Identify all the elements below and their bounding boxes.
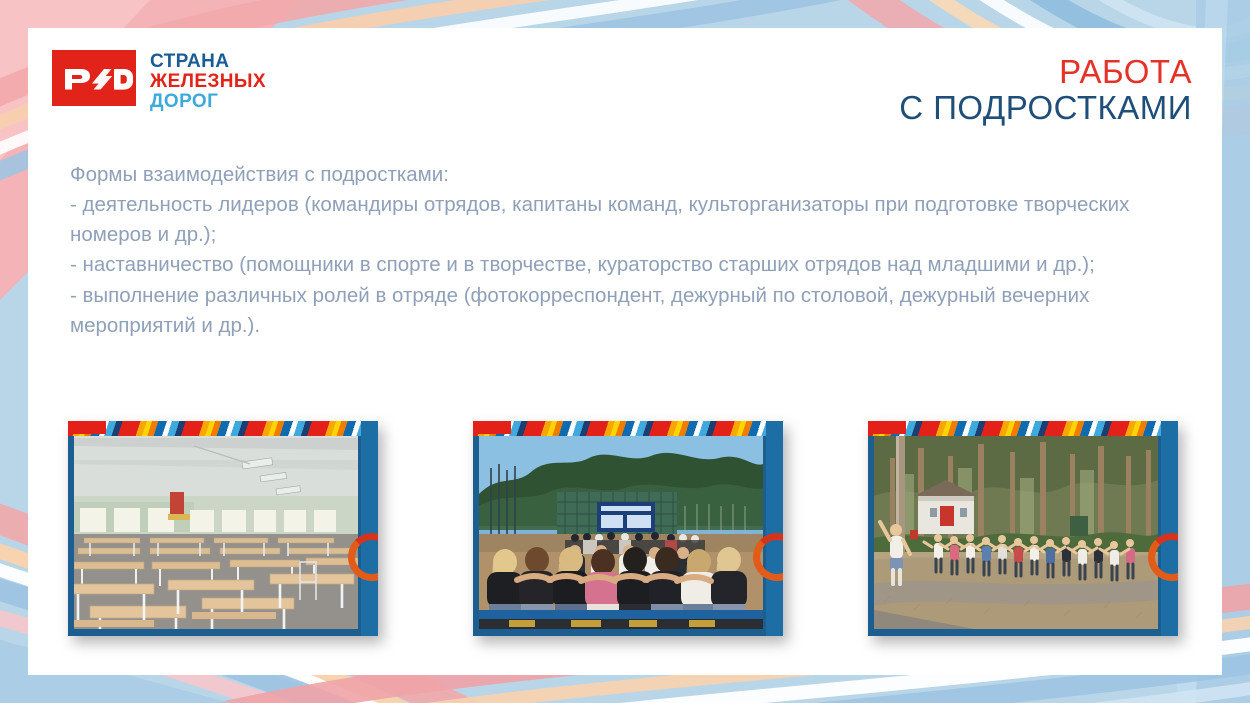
photo-frame-stripes [868,421,1178,436]
body-paragraph-3: - выполнение различных ролей в отряде (ф… [70,281,1180,341]
body-paragraph-0: Формы взаимодействия с подростками: [70,160,1180,190]
photo-frame [473,421,783,636]
title-line-1: РАБОТА [899,54,1192,90]
brand-wordmark: СТРАНА ЖЕЛЕЗНЫХ ДОРОГ [150,50,266,112]
title-line-2: С ПОДРОСТКАМИ [899,90,1192,126]
photo-frame-edge [1161,421,1178,636]
photo-frame-stripes [473,421,783,436]
slide-content-card: СТРАНА ЖЕЛЕЗНЫХ ДОРОГ РАБОТА С ПОДРОСТКА… [28,28,1222,675]
photo-frame [868,421,1178,636]
brand-line-2: ЖЕЛЕЗНЫХ [150,72,266,92]
photo-image-teens-on-bench [479,434,763,629]
photo-frame-stripes [68,421,378,436]
photo-frame-corner-accent [68,421,106,434]
photo-image-dining-hall [74,434,358,629]
brand-line-1: СТРАНА [150,52,266,72]
rzd-brand-logo: СТРАНА ЖЕЛЕЗНЫХ ДОРОГ [52,50,266,112]
photo-frame-corner-accent [473,421,511,434]
photo-teens-on-bench [473,421,783,636]
brand-line-3: ДОРОГ [150,92,266,112]
body-paragraph-2: - наставничество (помощники в спорте и в… [70,250,1180,280]
photo-image-morning-exercise [874,434,1158,629]
slide-body-text: Формы взаимодействия с подростками: - де… [70,160,1180,341]
photo-frame [68,421,378,636]
photo-gallery [28,421,1222,661]
photo-frame-edge [766,421,783,636]
photo-morning-exercise [868,421,1178,636]
presentation-slide: СТРАНА ЖЕЛЕЗНЫХ ДОРОГ РАБОТА С ПОДРОСТКА… [0,0,1250,703]
rzd-logo-mark [52,50,136,106]
slide-title: РАБОТА С ПОДРОСТКАМИ [899,54,1192,127]
photo-dining-hall [68,421,378,636]
body-paragraph-1: - деятельность лидеров (командиры отрядо… [70,190,1180,250]
photo-frame-edge [361,421,378,636]
photo-frame-corner-accent [868,421,906,434]
